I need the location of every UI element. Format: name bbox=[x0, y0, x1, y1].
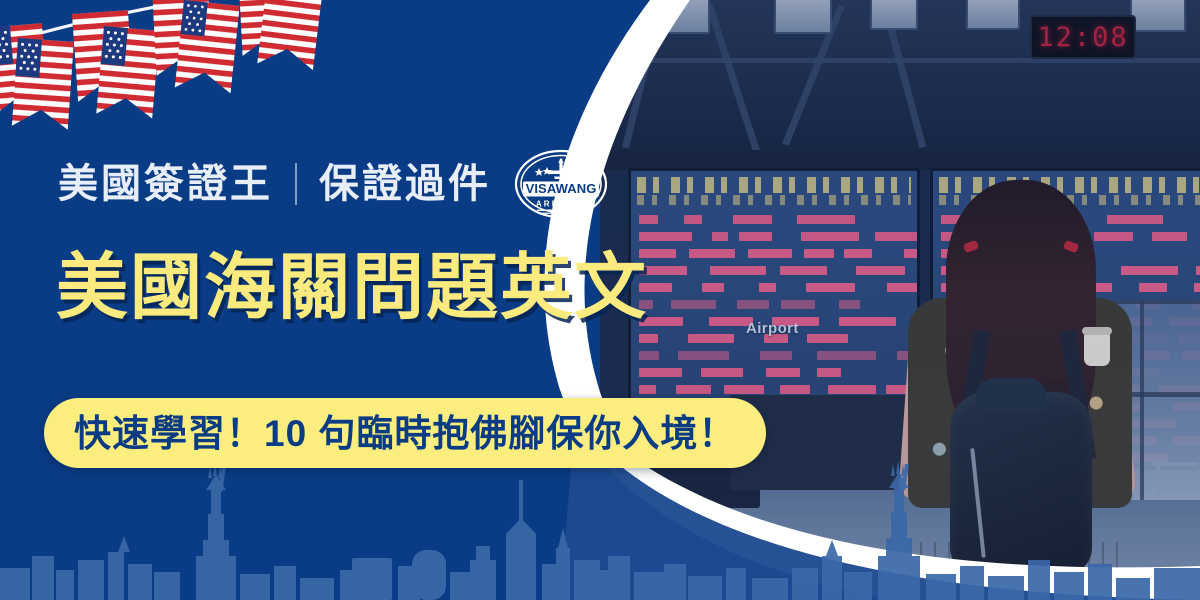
badge-wordmark: VISAWANG bbox=[526, 181, 597, 196]
brand-name: 美國簽證王 bbox=[58, 164, 273, 204]
badge-rule bbox=[537, 210, 585, 211]
badge-subtext: ARRIVAL bbox=[536, 200, 586, 209]
page-title: 美國海關問題英文 bbox=[56, 252, 648, 324]
text-content: 美國簽證王 保證過件 bbox=[0, 0, 620, 600]
badge-graphic: VISAWANG ARRIVAL bbox=[513, 148, 609, 220]
brand-row: 美國簽證王 保證過件 bbox=[58, 148, 609, 220]
airplane-icon bbox=[546, 158, 576, 179]
subheadline-pill: 快速學習！10 句臨時抱佛腳保你入境！ bbox=[44, 398, 766, 468]
subheadline-text: 快速學習！10 句臨時抱佛腳保你入境！ bbox=[74, 415, 736, 452]
badge-rule bbox=[540, 213, 582, 214]
visawang-badge: VISAWANG ARRIVAL bbox=[513, 148, 609, 220]
promo-banner: 12:08 Airport bbox=[0, 0, 1200, 600]
statue-of-liberty-icon bbox=[878, 461, 920, 600]
brand-tagline: 保證過件 bbox=[319, 164, 491, 204]
brand-divider bbox=[295, 163, 297, 205]
